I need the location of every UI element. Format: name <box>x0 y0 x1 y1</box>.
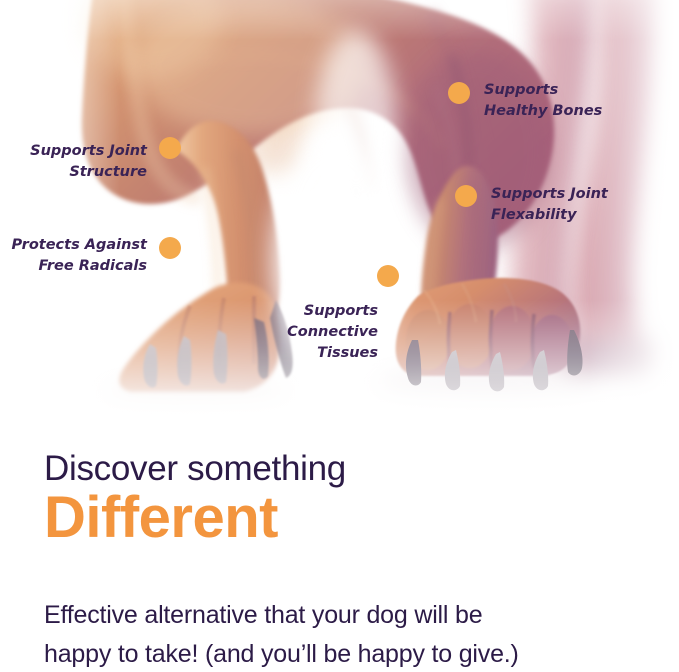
callout-dot-supports-connective-tissues <box>377 265 399 287</box>
headline-line-different: Different <box>44 487 644 549</box>
subcopy-block: Effective alternative that your dog will… <box>44 596 664 672</box>
subcopy-line-2: happy to take! (and you’ll be happy to g… <box>44 635 664 672</box>
callout-label-protects-against-free-radicals: Protects Against Free Radicals <box>0 235 147 277</box>
headline-line-discover: Discover something <box>44 448 644 489</box>
callout-label-supports-connective-tissues: Supports Connective Tissues <box>210 301 378 364</box>
infographic-page: Supports Joint Structure Protects Agains… <box>0 0 679 672</box>
callout-label-supports-joint-structure: Supports Joint Structure <box>0 141 147 183</box>
callout-dot-supports-joint-flexability <box>455 185 477 207</box>
callout-label-supports-joint-flexability: Supports Joint Flexability <box>491 184 679 226</box>
callout-dot-supports-healthy-bones <box>448 82 470 104</box>
subcopy-line-1: Effective alternative that your dog will… <box>44 596 664 635</box>
callout-dot-protects-against-free-radicals <box>159 237 181 259</box>
callout-label-supports-healthy-bones: Supports Healthy Bones <box>484 80 674 122</box>
headline-block: Discover something Different <box>44 448 644 549</box>
callout-dot-supports-joint-structure <box>159 137 181 159</box>
